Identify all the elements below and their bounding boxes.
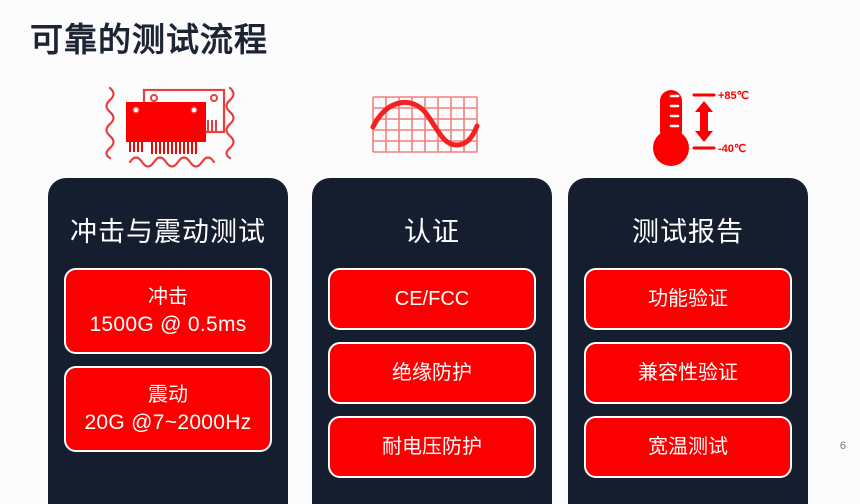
chip-vibration[interactable]: 震动 20G @7~2000Hz — [64, 366, 272, 452]
card-title: 测试报告 — [632, 214, 744, 250]
chip-main-label: 冲击 — [148, 283, 188, 311]
thermometer-low-label: -40℃ — [718, 143, 746, 155]
card-shock-vibration[interactable]: 冲击与震动测试 冲击 1500G @ 0.5ms 震动 20G @7~2000H… — [48, 178, 288, 504]
pcb-vibration-icon — [48, 82, 288, 172]
chip-main-label: 震动 — [148, 381, 188, 409]
chip-insulation-protection[interactable]: 绝缘防护 — [328, 342, 536, 404]
card-test-report[interactable]: 测试报告 功能验证 兼容性验证 宽温测试 — [568, 178, 808, 504]
chip-main-label: 耐电压防护 — [382, 433, 482, 461]
chip-main-label: 功能验证 — [648, 285, 728, 313]
chip-compatibility-verification[interactable]: 兼容性验证 — [584, 342, 792, 404]
chip-main-label: 绝缘防护 — [392, 359, 472, 387]
page-title: 可靠的测试流程 — [30, 18, 268, 62]
chip-sub-label: 1500G @ 0.5ms — [89, 311, 246, 339]
chip-ce-fcc[interactable]: CE/FCC — [328, 268, 536, 330]
card-title: 冲击与震动测试 — [70, 214, 266, 250]
chip-withstand-voltage-protection[interactable]: 耐电压防护 — [328, 416, 536, 478]
thermometer-icon: +85℃ -40℃ — [568, 82, 808, 172]
page-number: 6 — [840, 440, 846, 452]
thermometer-high-label: +85℃ — [718, 90, 749, 102]
chip-function-verification[interactable]: 功能验证 — [584, 268, 792, 330]
card-certification[interactable]: 认证 CE/FCC 绝缘防护 耐电压防护 — [312, 178, 552, 504]
chip-sub-label: 20G @7~2000Hz — [84, 409, 251, 437]
chip-main-label: 兼容性验证 — [638, 359, 738, 387]
slide-canvas: 可靠的测试流程 — [0, 0, 860, 504]
chip-main-label: 宽温测试 — [648, 433, 728, 461]
chip-wide-temperature-test[interactable]: 宽温测试 — [584, 416, 792, 478]
chip-main-label: CE/FCC — [395, 285, 469, 313]
sine-wave-grid-icon — [312, 82, 552, 172]
chip-shock[interactable]: 冲击 1500G @ 0.5ms — [64, 268, 272, 354]
card-title: 认证 — [404, 214, 460, 250]
